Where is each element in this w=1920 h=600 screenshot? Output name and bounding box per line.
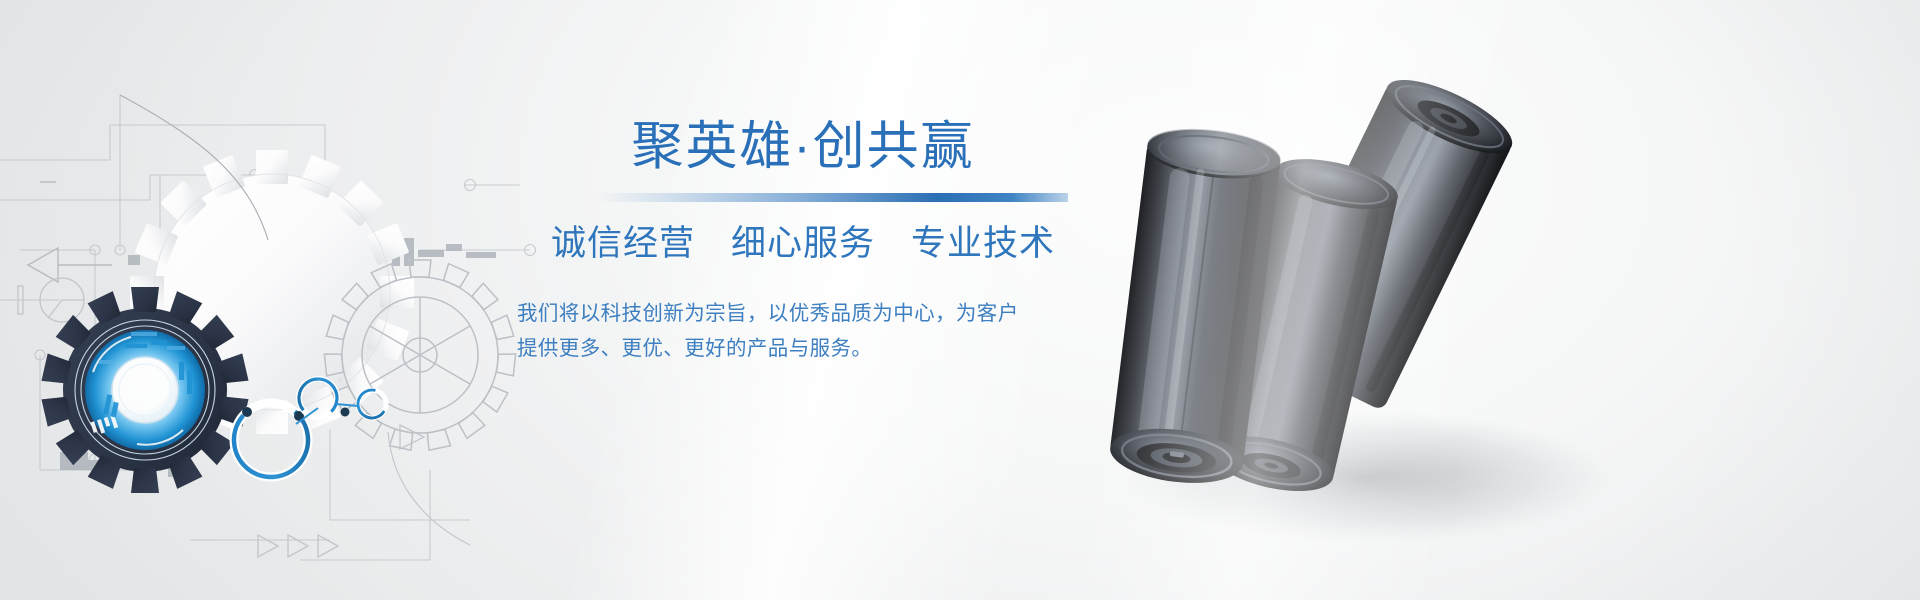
banner-tagline: 诚信经营 细心服务 专业技术 — [513, 223, 1093, 265]
title-divider — [598, 193, 1068, 202]
banner-copy: 聚英雄·创共赢 诚信经营 细心服务 专业技术 我们将以科技创新为宗旨，以优秀品质… — [513, 118, 1093, 367]
banner-description: 我们将以科技创新为宗旨，以优秀品质为中心，为客户 提供更多、更优、更好的产品与服… — [517, 296, 1093, 367]
technology-gear-illustration — [0, 0, 560, 600]
hero-banner: 聚英雄·创共赢 诚信经营 细心服务 专业技术 我们将以科技创新为宗旨，以优秀品质… — [0, 0, 1920, 600]
description-line-2: 提供更多、更优、更好的产品与服务。 — [517, 331, 1093, 366]
page-title: 聚英雄·创共赢 — [513, 118, 1093, 176]
conveyor-roller-product-photo — [1090, 45, 1650, 565]
description-line-1: 我们将以科技创新为宗旨，以优秀品质为中心，为客户 — [517, 296, 1093, 331]
